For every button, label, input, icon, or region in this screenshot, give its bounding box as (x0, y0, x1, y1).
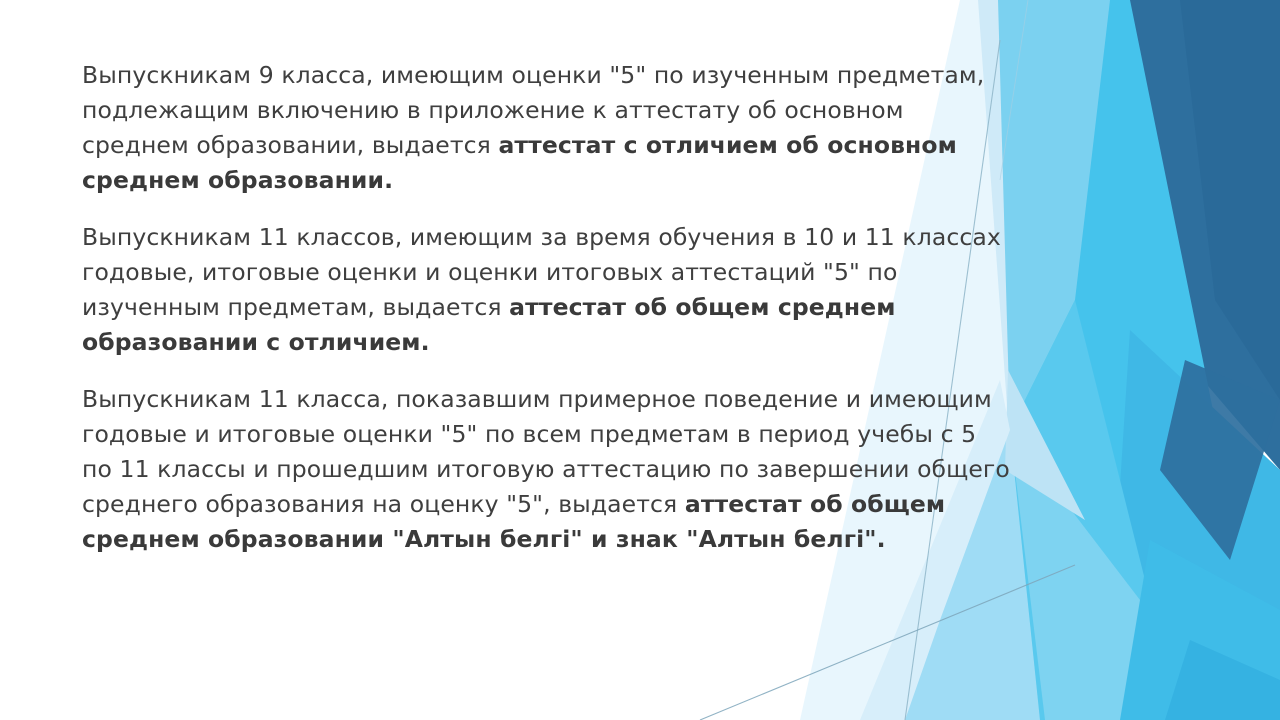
facet-dark-right-b (1180, 0, 1280, 400)
facet-sky-upper (995, 0, 1110, 430)
facet-light-lower-c (1010, 430, 1150, 720)
paragraph-3: Выпускникам 11 класса, показавшим пример… (82, 382, 1012, 557)
paragraph-2: Выпускникам 11 классов, имеющим за время… (82, 220, 1012, 360)
facet-light-lower-a (1010, 300, 1180, 720)
presentation-slide: Выпускникам 9 класса, имеющим оценки "5"… (0, 0, 1280, 720)
paragraph-1: Выпускникам 9 класса, имеющим оценки "5"… (82, 58, 1012, 198)
facet-bottom-sweep-2 (1165, 640, 1280, 720)
facet-bottom-sweep (1120, 540, 1280, 720)
slide-text-body: Выпускникам 9 класса, имеющим оценки "5"… (82, 58, 1012, 557)
hairline-lower-diagonal (700, 565, 1075, 720)
facet-mid-blue (980, 0, 1215, 720)
facet-pale-triangle (1005, 370, 1085, 520)
facet-mid-blue-2 (1105, 330, 1280, 720)
facet-accent-deep (1160, 360, 1280, 560)
facet-dark-right (1105, 0, 1280, 470)
